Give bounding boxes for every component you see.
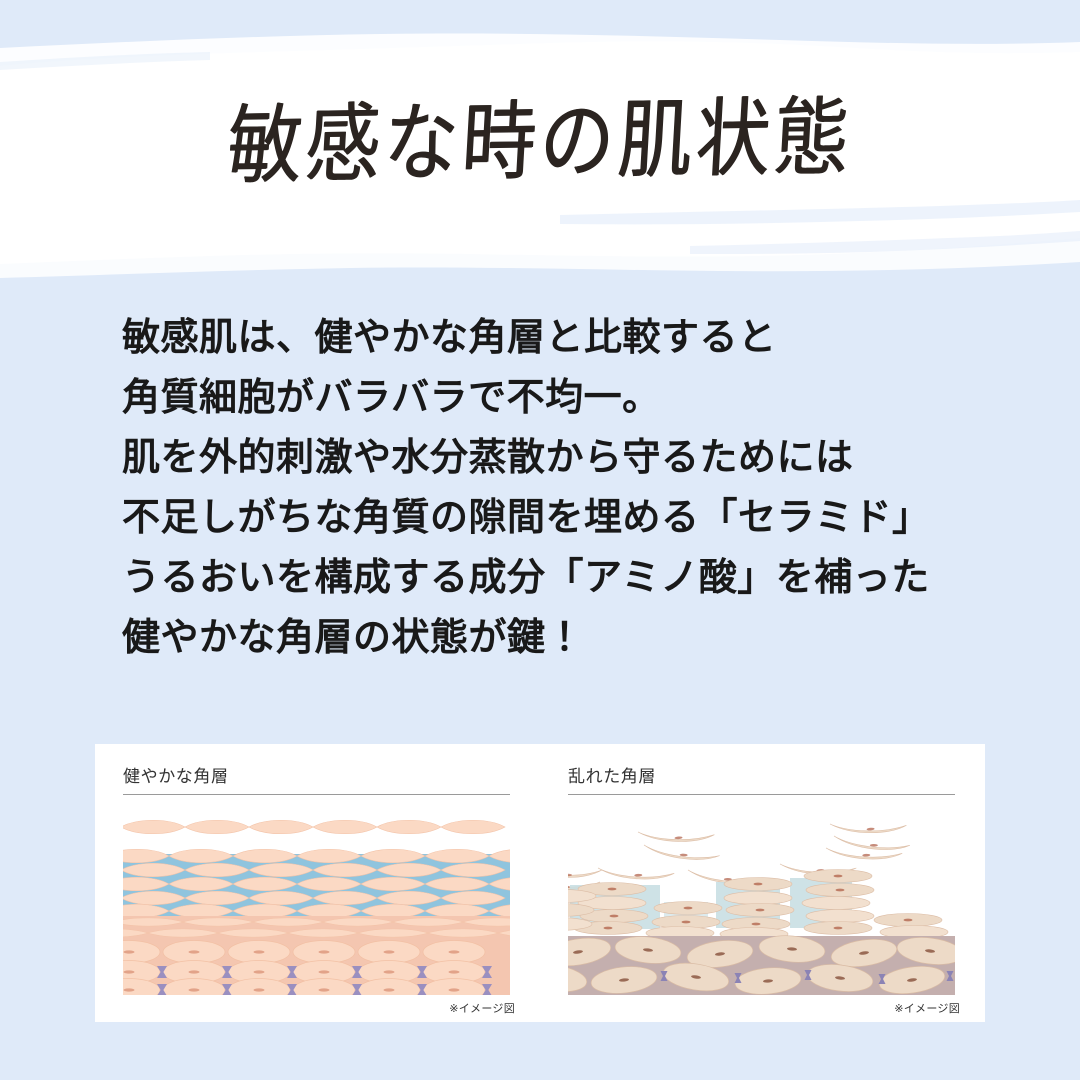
poster-canvas: 敏感な時の肌状態 敏感肌は、健やかな角層と比較すると 角質細胞がバラバラで不均一… [0, 0, 1080, 1080]
copy-line-3: 肌を外的刺激や水分蒸散から守るためには [122, 428, 982, 488]
comparison-card: 健やかな角層 [95, 744, 985, 1022]
healthy-lower-layers [123, 916, 510, 995]
copy-line-4: 不足しがちな角質の隙間を埋める「セラミド」 [122, 488, 982, 548]
healthy-stratum-diagram [123, 810, 510, 995]
copy-line-5: うるおいを構成する成分「アミノ酸」を補った [122, 548, 982, 608]
panel-disordered: 乱れた角層 [540, 744, 985, 1022]
panel-healthy: 健やかな角層 [95, 744, 540, 1022]
panel-healthy-title: 健やかな角層 [123, 762, 229, 787]
body-copy: 敏感肌は、健やかな角層と比較すると 角質細胞がバラバラで不均一。 肌を外的刺激や… [122, 308, 982, 668]
panel-healthy-caption: ※イメージ図 [449, 1000, 515, 1016]
disordered-floating-flakes [638, 817, 910, 860]
page-title: 敏感な時の肌状態 [225, 91, 855, 194]
copy-line-1: 敏感肌は、健やかな角層と比較すると [122, 308, 982, 368]
panel-healthy-rule [123, 794, 510, 795]
healthy-corneum-block [123, 849, 510, 918]
copy-line-6: 健やかな角層の状態が鍵！ [122, 608, 982, 668]
panel-disordered-rule [568, 794, 955, 795]
page-title-wrap: 敏感な時の肌状態 [0, 88, 1080, 198]
disordered-corneocyte-stack [568, 870, 948, 941]
copy-line-2: 角質細胞がバラバラで不均一。 [122, 368, 982, 428]
disordered-basal-layer [568, 933, 955, 995]
disordered-stratum-diagram [568, 810, 955, 995]
panel-disordered-title: 乱れた角層 [568, 762, 656, 787]
panel-disordered-caption: ※イメージ図 [894, 1000, 960, 1016]
healthy-surface-flakes [123, 820, 505, 834]
